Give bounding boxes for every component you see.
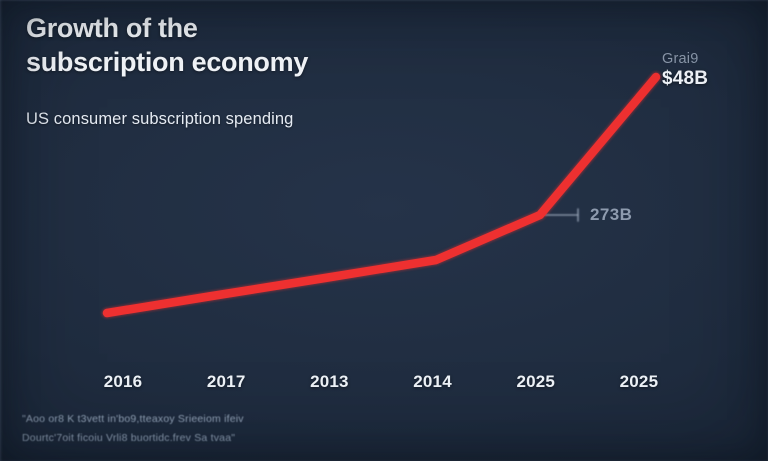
end-of-line-label: Grai9 $48B	[662, 52, 708, 89]
trend-line	[107, 77, 656, 313]
x-axis-tick-labels: 2016 2017 2013 2014 2025 2025	[86, 372, 676, 392]
x-tick-0: 2016	[86, 372, 160, 392]
x-tick-1: 2017	[189, 372, 263, 392]
footnote-line-2: Dourtc'7oit ficoiu Vrli8 buortidc.frev S…	[22, 429, 442, 448]
slide-canvas: Growth of the subscription economy US co…	[0, 0, 768, 461]
x-tick-3: 2014	[396, 372, 470, 392]
footnote-source-note: "Aoo or8 K t3vett in'bo9,tteaxoy Srieeio…	[22, 410, 442, 449]
trend-line-glow	[107, 77, 656, 313]
x-tick-5: 2025	[602, 372, 676, 392]
end-label-value: $48B	[662, 69, 708, 89]
x-tick-2: 2013	[292, 372, 366, 392]
end-label-name: Grai9	[662, 52, 708, 67]
x-tick-4: 2025	[499, 372, 573, 392]
mid-annotation-value: 273B	[590, 205, 632, 225]
footnote-line-1: "Aoo or8 K t3vett in'bo9,tteaxoy Srieeio…	[22, 410, 442, 429]
